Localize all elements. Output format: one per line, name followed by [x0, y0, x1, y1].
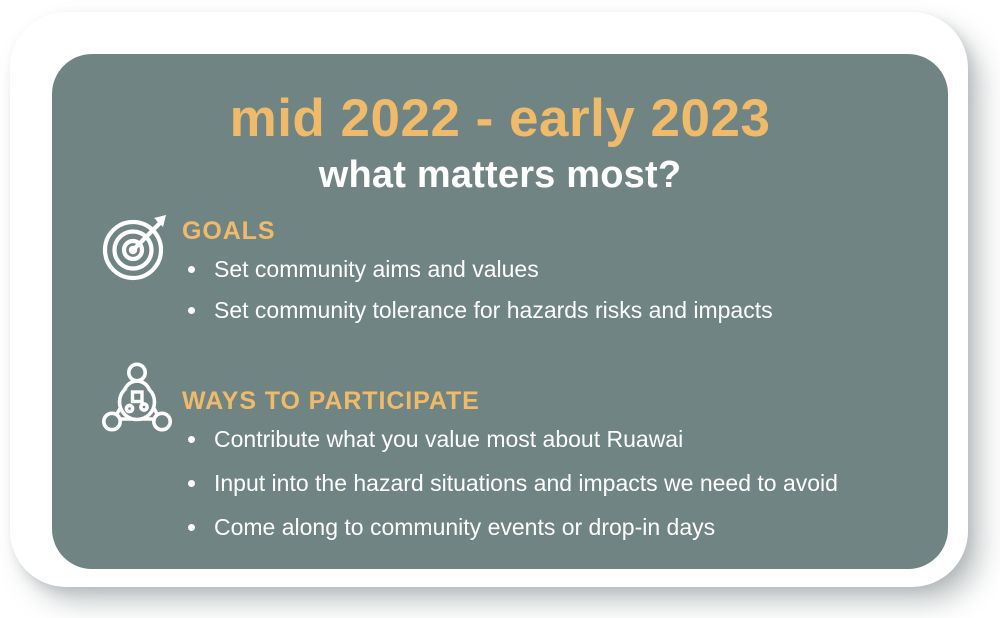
participate-bullet-list: Contribute what you value most about Rua… [182, 428, 922, 539]
list-item: Come along to community events or drop-i… [182, 516, 922, 539]
network-people-icon [98, 359, 176, 437]
section-participate-body: WAYS TO PARTICIPATE Contribute what you … [182, 359, 922, 560]
page-title: mid 2022 - early 2023 [52, 92, 948, 145]
list-item: Set community tolerance for hazards risk… [182, 299, 922, 322]
card-inner-panel: mid 2022 - early 2023 what matters most? [52, 54, 948, 569]
page-subtitle: what matters most? [52, 156, 948, 194]
section-goals-body: GOALS Set community aims and values Set … [182, 206, 922, 340]
list-item: Contribute what you value most about Rua… [182, 428, 922, 451]
section-heading-goals: GOALS [182, 219, 922, 244]
list-item: Set community aims and values [182, 258, 922, 281]
infographic-card: mid 2022 - early 2023 what matters most? [0, 0, 1000, 618]
section-heading-participate: WAYS TO PARTICIPATE [182, 389, 922, 414]
card-white-frame: mid 2022 - early 2023 what matters most? [10, 12, 968, 587]
target-arrow-icon [98, 206, 176, 284]
goals-bullet-list: Set community aims and values Set commun… [182, 258, 922, 322]
list-item: Input into the hazard situations and imp… [182, 472, 922, 495]
